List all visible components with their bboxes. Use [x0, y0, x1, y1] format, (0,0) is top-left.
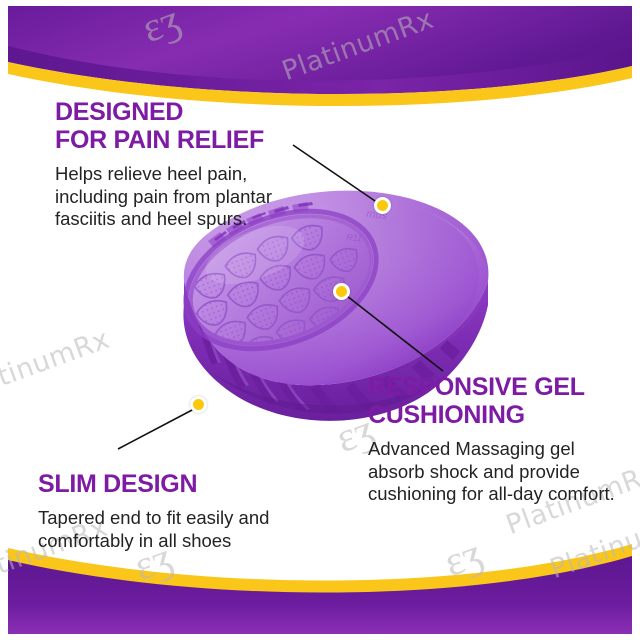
watermark-text: PlatinumRx: [0, 324, 114, 407]
feature-body-pain-relief: Helps relieve heel pain, including pain …: [55, 163, 317, 231]
feature-block-slim-design: SLIM DESIGN Tapered end to fit easily an…: [38, 470, 298, 552]
feature-body-slim-design: Tapered end to fit easily and comfortabl…: [38, 507, 298, 552]
watermark-logo-mark: εʒ: [438, 530, 489, 588]
headline-line-1: DESIGNED: [55, 98, 183, 126]
feature-block-pain-relief: DESIGNED FOR PAIN RELIEF Helps relieve h…: [55, 98, 317, 231]
product-infographic: εʒ PlatinumRx εʒ PlatinumRx PlatinumRx ε…: [0, 0, 640, 640]
svg-text:R11: R11: [346, 232, 363, 244]
callout-dot-slim-design[interactable]: [190, 396, 207, 413]
headline-line-1: RESPONSIVE GEL: [368, 373, 585, 401]
headline-line-2: CUSHIONING: [368, 401, 525, 429]
feature-body-gel-cushioning: Advanced Massaging gel absorb shock and …: [368, 438, 618, 506]
feature-headline-slim-design: SLIM DESIGN: [38, 470, 298, 498]
feature-headline-pain-relief: DESIGNED FOR PAIN RELIEF: [55, 98, 317, 154]
callout-dot-gel-cushioning[interactable]: [333, 283, 350, 300]
watermark-text: PlatinumRx: [546, 502, 640, 585]
callout-dot-pain-relief[interactable]: [374, 197, 391, 214]
feature-headline-gel-cushioning: RESPONSIVE GEL CUSHIONING: [368, 373, 618, 429]
watermark-logo-mark: εʒ: [136, 0, 187, 53]
watermark-text: PlatinumRx: [278, 4, 438, 87]
headline-line-2: FOR PAIN RELIEF: [55, 126, 264, 154]
feature-block-gel-cushioning: RESPONSIVE GEL CUSHIONING Advanced Massa…: [368, 373, 618, 506]
